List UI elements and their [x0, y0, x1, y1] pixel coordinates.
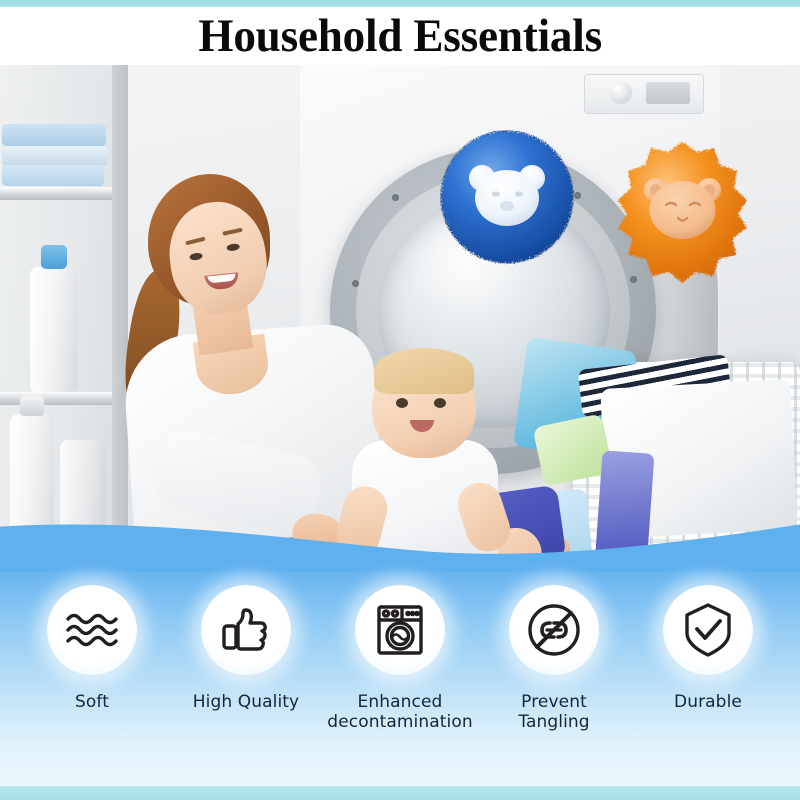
title-bar: Household Essentials — [0, 7, 800, 65]
top-trim-bar — [0, 0, 800, 7]
shelf-board — [0, 187, 128, 200]
feature-icon-circle — [509, 585, 599, 675]
thumbs-up-icon — [220, 604, 272, 656]
feature-icon-circle — [355, 585, 445, 675]
feature-label: Soft — [75, 693, 109, 713]
feature-label-line1: Enhanced — [358, 692, 443, 712]
feature-item-durable[interactable]: Durable — [638, 585, 778, 745]
feature-label: Prevent Tangling — [484, 693, 624, 732]
feature-label: High Quality — [193, 693, 299, 713]
washer-knob — [610, 82, 632, 104]
feature-icon-circle — [663, 585, 753, 675]
feature-item-prevent-tangling[interactable]: Prevent Tangling — [484, 585, 624, 745]
shield-check-icon — [683, 602, 733, 658]
feature-icon-circle — [201, 585, 291, 675]
feature-item-enhanced-decontamination[interactable]: Enhanced decontamination — [330, 585, 470, 745]
folded-towel — [2, 124, 106, 146]
detergent-bottle — [30, 267, 78, 392]
product-marketing-image: Household Essentials — [0, 0, 800, 800]
feature-list: Soft High Quality — [0, 585, 800, 745]
photo-wave-divider — [0, 492, 800, 572]
washer-display — [646, 82, 690, 104]
orange-lion-washing-ball — [600, 130, 765, 295]
hero-photo — [0, 62, 800, 572]
feature-item-soft[interactable]: Soft — [22, 585, 162, 745]
feature-label: Enhanced decontamination — [327, 693, 472, 732]
page-title: Household Essentials — [198, 13, 602, 60]
feature-item-high-quality[interactable]: High Quality — [176, 585, 316, 745]
washing-machine-icon — [375, 603, 425, 657]
bottom-trim-bar — [0, 786, 800, 800]
baby-hair — [374, 348, 474, 394]
folded-towel — [2, 146, 108, 166]
feature-icon-circle — [47, 585, 137, 675]
feature-label: Durable — [674, 693, 742, 713]
no-tangle-icon — [526, 602, 582, 658]
waves-icon — [64, 608, 120, 652]
folded-towel — [2, 165, 104, 186]
feature-label-line2: decontamination — [327, 712, 472, 732]
blue-bear-washing-ball — [432, 122, 582, 272]
